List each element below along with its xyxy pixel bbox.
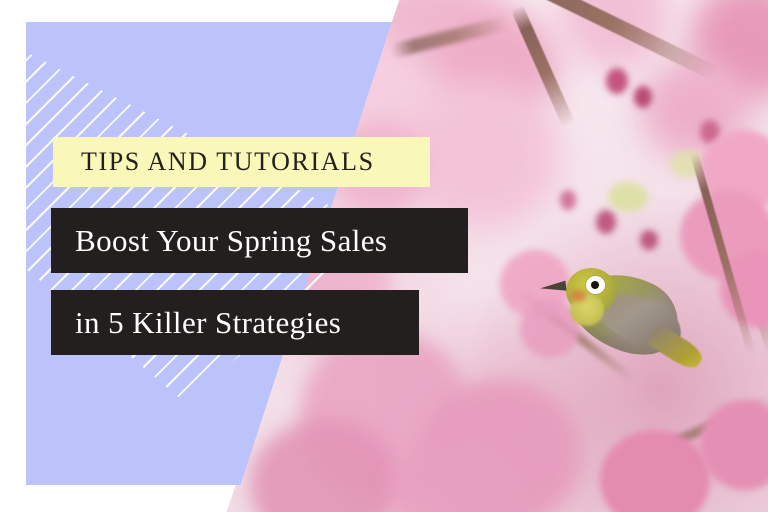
eyebrow-band: TIPS AND TUTORIALS bbox=[53, 137, 430, 187]
bird-eye bbox=[591, 281, 599, 289]
sakura-bud bbox=[640, 230, 658, 250]
headline-line2: in 5 Killer Strategies bbox=[51, 305, 341, 341]
poster-canvas: TIPS AND TUTORIALS Boost Your Spring Sal… bbox=[0, 0, 768, 512]
bird-cheek bbox=[570, 290, 586, 302]
japanese-white-eye-bird bbox=[556, 250, 726, 390]
headline-line1: Boost Your Spring Sales bbox=[51, 223, 387, 259]
sakura-bud bbox=[596, 210, 616, 234]
headline-band-line2: in 5 Killer Strategies bbox=[51, 290, 419, 355]
bird-beak bbox=[540, 281, 567, 294]
sakura-bud bbox=[606, 68, 628, 94]
eyebrow-label: TIPS AND TUTORIALS bbox=[53, 147, 375, 177]
sakura-bud bbox=[634, 86, 652, 108]
headline-band-line1: Boost Your Spring Sales bbox=[51, 208, 468, 273]
sakura-bud bbox=[560, 190, 576, 210]
sakura-bud bbox=[608, 182, 648, 212]
